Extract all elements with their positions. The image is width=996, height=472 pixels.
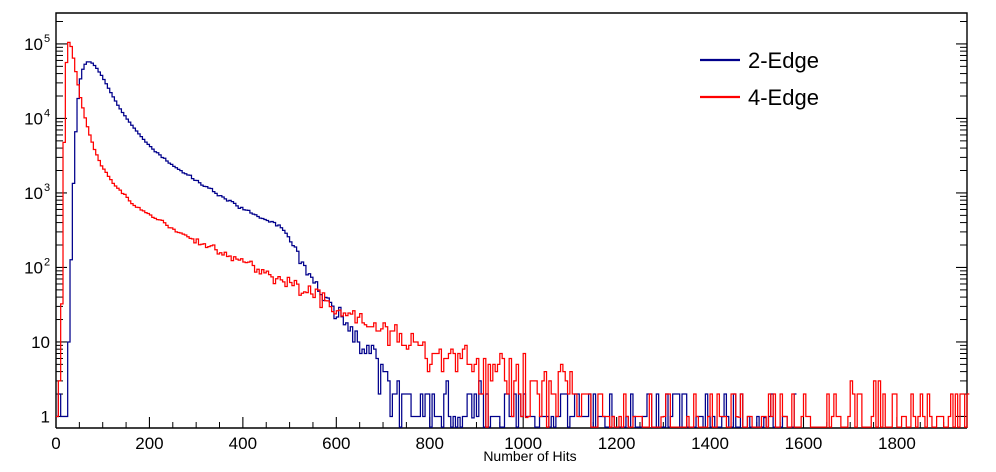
y-tick-label: 1 (41, 407, 50, 426)
svg-text:2: 2 (44, 256, 50, 268)
legend-label: 4-Edge (748, 85, 819, 110)
svg-text:10: 10 (31, 333, 50, 352)
svg-text:10: 10 (24, 109, 43, 128)
x-tick-label: 400 (229, 434, 257, 453)
svg-text:3: 3 (44, 182, 50, 194)
x-tick-label: 1200 (598, 434, 636, 453)
figure-background (0, 0, 996, 472)
x-tick-label: 1600 (785, 434, 823, 453)
legend-label: 2-Edge (748, 48, 819, 73)
svg-text:10: 10 (24, 184, 43, 203)
y-tick-label: 10 (31, 333, 50, 352)
x-tick-label: 800 (416, 434, 444, 453)
x-tick-label: 1400 (691, 434, 729, 453)
x-tick-label: 200 (135, 434, 163, 453)
svg-text:4: 4 (44, 107, 50, 119)
histogram-figure: 020040060080010001200140016001800 110102… (0, 0, 996, 472)
svg-text:10: 10 (24, 258, 43, 277)
x-tick-label: 0 (51, 434, 60, 453)
svg-text:5: 5 (44, 33, 50, 45)
x-axis-title: Number of Hits (483, 448, 576, 464)
x-tick-label: 1800 (878, 434, 916, 453)
x-tick-label: 600 (322, 434, 350, 453)
plot-svg: 020040060080010001200140016001800 110102… (0, 0, 996, 472)
svg-text:1: 1 (41, 407, 50, 426)
svg-text:10: 10 (24, 35, 43, 54)
